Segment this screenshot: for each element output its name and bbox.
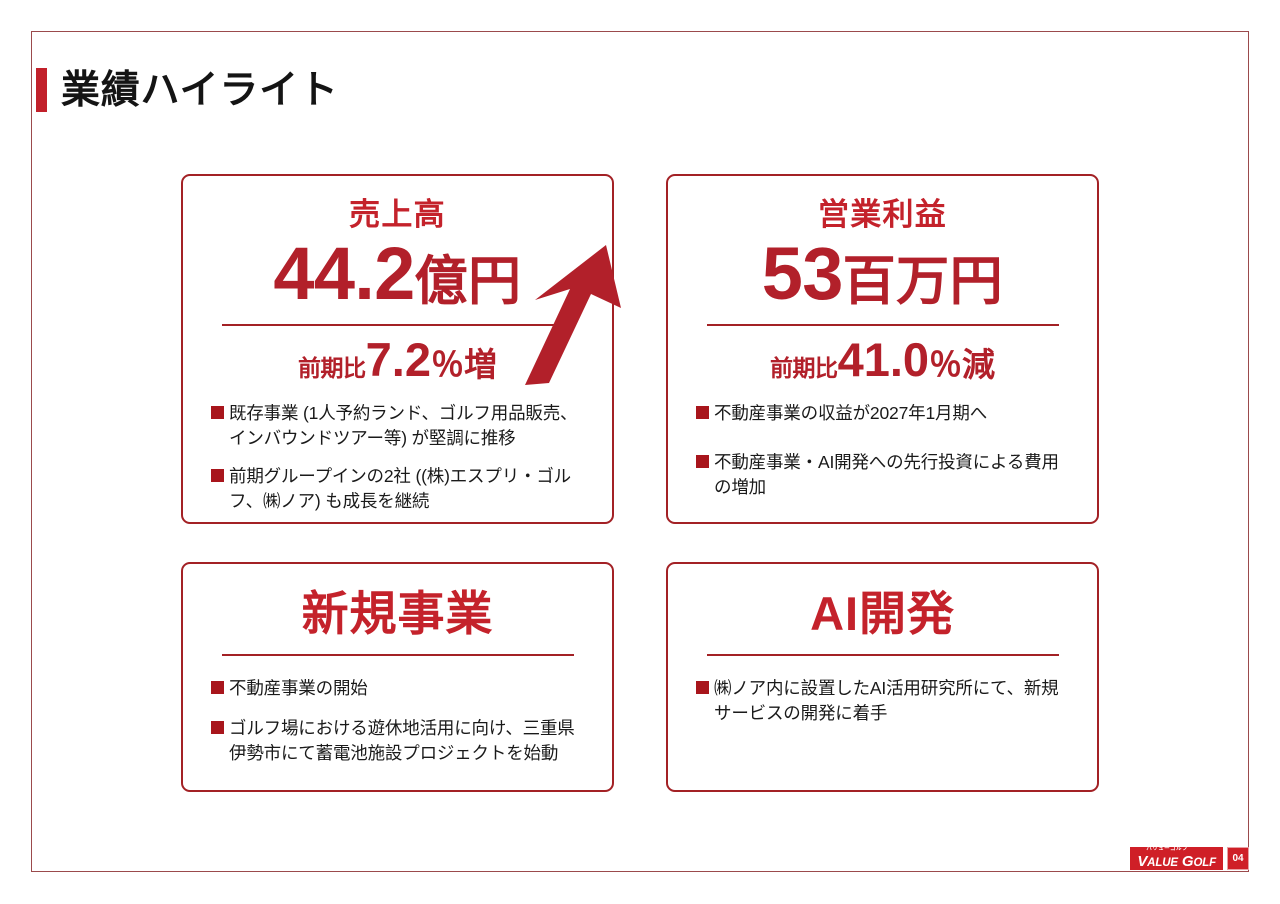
logo-olf: OLF (1193, 857, 1216, 869)
list-item: ㈱ノア内に設置したAI活用研究所にて、新規サービスの開発に着手 (696, 676, 1075, 726)
metric-operating-profit: 53百万円 (668, 237, 1097, 311)
square-bullet-icon (696, 681, 709, 694)
square-bullet-icon (696, 455, 709, 468)
compare-label: 前期比 (298, 355, 366, 381)
card-divider (222, 654, 574, 656)
card-divider (222, 324, 574, 326)
metric-unit: 百万円 (843, 252, 1004, 311)
bullet-list-ai-development: ㈱ノア内に設置したAI活用研究所にて、新規サービスの開発に着手 (668, 676, 1097, 726)
value-golf-logo: バリューゴルフ VALUE GOLF (1130, 847, 1223, 870)
list-item-text: 不動産事業の開始 (229, 676, 590, 701)
list-item: 不動産事業の収益が2027年1月期へ (696, 401, 1075, 426)
list-item: 不動産事業の開始 (211, 676, 590, 701)
card-net-sales: 売上高 44.2億円 前期比7.2％増 既存事業 (1人予約ランド、ゴルフ用品販… (181, 174, 614, 524)
bullet-list-net-sales: 既存事業 (1人予約ランド、ゴルフ用品販売、インバウンドツアー等) が堅調に推移… (183, 401, 612, 513)
bullet-list-new-business: 不動産事業の開始 ゴルフ場における遊休地活用に向け、三重県伊勢市にて蓄電池施設プ… (183, 676, 612, 766)
list-item-text: 前期グループインの2社 ((株)エスプリ・ゴルフ、㈱ノア) も成長を継続 (229, 464, 590, 514)
compare-number: 41.0 (838, 333, 929, 386)
list-item: 前期グループインの2社 ((株)エスプリ・ゴルフ、㈱ノア) も成長を継続 (211, 464, 590, 514)
footer: バリューゴルフ VALUE GOLF 04 (1130, 847, 1249, 870)
page-number: 04 (1227, 847, 1249, 870)
card-operating-profit: 営業利益 53百万円 前期比41.0％減 不動産事業の収益が2027年1月期へ … (666, 174, 1099, 524)
list-item-text: ㈱ノア内に設置したAI活用研究所にて、新規サービスの開発に着手 (714, 676, 1075, 726)
list-item-text: 既存事業 (1人予約ランド、ゴルフ用品販売、インバウンドツアー等) が堅調に推移 (229, 401, 590, 451)
compare-operating-profit: 前期比41.0％減 (668, 336, 1097, 383)
list-item-text: 不動産事業・AI開発への先行投資による費用の増加 (714, 450, 1075, 500)
card-divider (707, 654, 1059, 656)
square-bullet-icon (211, 681, 224, 694)
square-bullet-icon (211, 469, 224, 482)
logo-wordmark: VALUE GOLF (1137, 854, 1216, 870)
compare-label: 前期比 (770, 355, 838, 381)
card-ai-development: AI開発 ㈱ノア内に設置したAI活用研究所にて、新規サービスの開発に着手 (666, 562, 1099, 792)
square-bullet-icon (696, 406, 709, 419)
metric-number: 44.2 (273, 232, 414, 315)
square-bullet-icon (211, 721, 224, 734)
logo-alue: ALUE (1147, 857, 1178, 869)
card-heading-new-business: 新規事業 (183, 590, 612, 637)
bullet-list-operating-profit: 不動産事業の収益が2027年1月期へ 不動産事業・AI開発への先行投資による費用… (668, 401, 1097, 500)
logo-v: V (1137, 853, 1147, 870)
card-divider (707, 324, 1059, 326)
metric-net-sales: 44.2億円 (183, 237, 612, 311)
logo-g: G (1182, 853, 1194, 870)
slide: 業績ハイライト 売上高 44.2億円 前期比7.2％増 既存事業 (1人予約ラン… (0, 0, 1280, 904)
compare-suffix: ％増 (431, 346, 497, 383)
list-item: 不動産事業・AI開発への先行投資による費用の増加 (696, 450, 1075, 500)
square-bullet-icon (211, 406, 224, 419)
title-text: 業績ハイライト (61, 71, 339, 110)
card-new-business: 新規事業 不動産事業の開始 ゴルフ場における遊休地活用に向け、三重県伊勢市にて蓄… (181, 562, 614, 792)
list-item: 既存事業 (1人予約ランド、ゴルフ用品販売、インバウンドツアー等) が堅調に推移 (211, 401, 590, 451)
card-heading-ai-development: AI開発 (668, 590, 1097, 637)
page-title: 業績ハイライト (36, 68, 339, 112)
title-accent-bar (36, 68, 47, 112)
compare-net-sales: 前期比7.2％増 (183, 336, 612, 383)
compare-number: 7.2 (366, 333, 431, 386)
metric-number: 53 (762, 232, 843, 315)
list-item-text: 不動産事業の収益が2027年1月期へ (714, 401, 1075, 426)
compare-suffix: ％減 (929, 346, 995, 383)
list-item: ゴルフ場における遊休地活用に向け、三重県伊勢市にて蓄電池施設プロジェクトを始動 (211, 716, 590, 766)
card-heading-net-sales: 売上高 (183, 199, 612, 230)
card-heading-operating-profit: 営業利益 (668, 199, 1097, 230)
list-item-text: ゴルフ場における遊休地活用に向け、三重県伊勢市にて蓄電池施設プロジェクトを始動 (229, 716, 590, 766)
metric-unit: 億円 (415, 252, 522, 311)
